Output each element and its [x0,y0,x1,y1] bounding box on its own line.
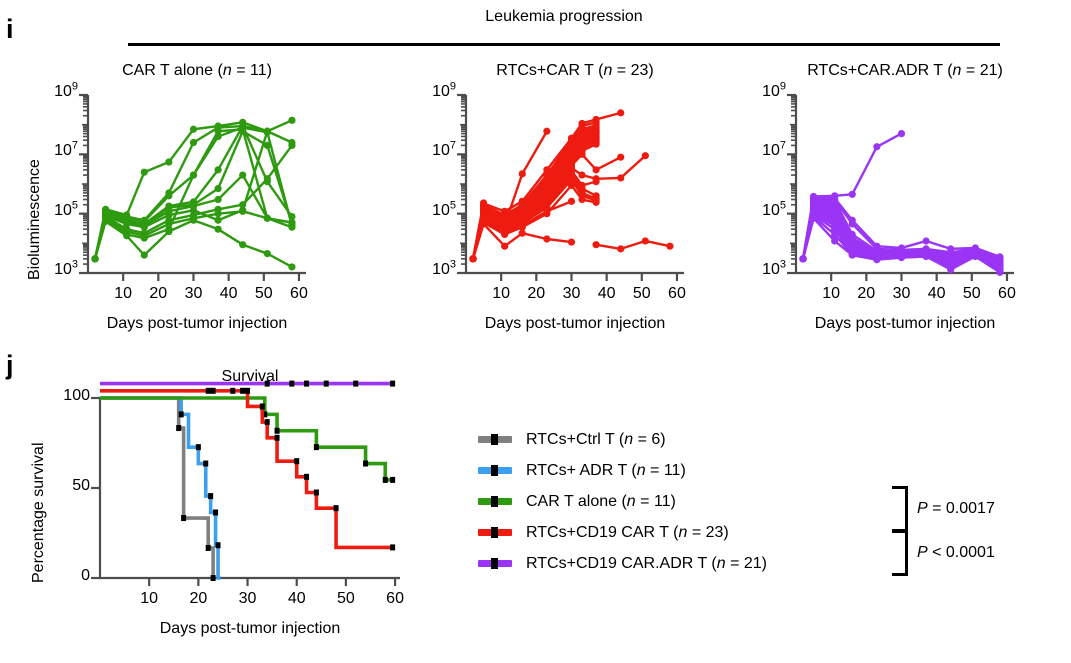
censor-mark [196,444,201,450]
y-tick-label-survival-100: 100 [38,387,90,405]
censor-mark [216,542,221,548]
x-tick-label-survival-10: 10 [129,590,169,608]
censor-mark [390,381,395,387]
censor-mark [245,388,250,394]
pvalue-row-0: P = 0.0017 [892,487,995,531]
legend-swatch-3 [478,529,512,536]
censor-mark [203,461,208,467]
censor-mark [383,477,388,483]
censor-mark [181,515,186,521]
survival-curve-EE1C10 [100,391,393,548]
pvalue-text-0: P = 0.0017 [917,500,995,518]
survival-legend: RTCs+Ctrl T (n = 6)RTCs+ ADR T (n = 11)C… [478,424,767,579]
figure-root: i Leukemia progression Bioluminescence C… [0,0,1071,663]
censor-mark [304,381,309,387]
legend-swatch-2 [478,498,512,505]
censor-mark [289,381,294,387]
censor-mark [275,428,280,434]
pvalue-text-1: P < 0.0001 [917,544,995,562]
pvalue-annotations: P = 0.0017P < 0.0001 [892,487,995,575]
censor-mark [230,388,235,394]
censor-mark [206,388,211,394]
censor-mark [179,411,184,417]
censor-mark [334,505,339,511]
censor-mark [206,545,211,551]
censor-mark [314,490,319,496]
pvalue-bracket-0 [892,486,908,532]
x-tick-label-survival-60: 60 [375,590,415,608]
censor-mark [294,458,299,464]
pvalue-bracket-1 [892,530,908,576]
legend-item-0[interactable]: RTCs+Ctrl T (n = 6) [478,424,767,455]
censor-mark [390,477,395,483]
censor-mark [240,388,245,394]
legend-item-3[interactable]: RTCs+CD19 CAR T (n = 23) [478,517,767,548]
survival-curve-808080 [100,398,216,578]
y-axis-label-percentage-survival: Percentage survival [30,442,48,583]
legend-swatch-0 [478,436,512,443]
censor-mark [213,509,218,515]
censor-mark [260,403,265,409]
legend-label-0: RTCs+Ctrl T (n = 6) [526,431,666,449]
pvalue-row-1: P < 0.0001 [892,531,995,575]
legend-item-1[interactable]: RTCs+ ADR T (n = 11) [478,455,767,486]
legend-item-2[interactable]: CAR T alone (n = 11) [478,486,767,517]
censor-mark [363,461,368,467]
censor-mark [353,381,358,387]
censor-mark [265,419,270,425]
axes-survival [100,398,400,578]
censor-mark [176,425,181,431]
censor-mark [211,388,216,394]
x-tick-label-survival-20: 20 [178,590,218,608]
legend-swatch-4 [478,560,512,567]
censor-mark [275,435,280,441]
legend-label-2: CAR T alone (n = 11) [526,493,676,511]
x-tick-label-survival-50: 50 [326,590,366,608]
legend-item-4[interactable]: RTCs+CD19 CAR.ADR T (n = 21) [478,548,767,579]
censor-mark [304,474,309,480]
legend-swatch-1 [478,467,512,474]
legend-label-1: RTCs+ ADR T (n = 11) [526,462,686,480]
x-tick-label-survival-40: 40 [277,590,317,608]
survival-curve-3CA0EF [100,398,220,578]
x-axis-label-survival: Days post-tumor injection [110,620,390,638]
censor-mark [390,544,395,550]
x-tick-label-survival-30: 30 [228,590,268,608]
legend-label-3: RTCs+CD19 CAR T (n = 23) [526,524,729,542]
censor-mark [324,381,329,387]
censor-mark [265,381,270,387]
censor-mark [208,493,213,499]
censor-mark [211,575,216,581]
legend-label-4: RTCs+CD19 CAR.ADR T (n = 21) [526,555,767,573]
survival-curve-2E9A10 [100,398,393,480]
censor-mark [314,444,319,450]
